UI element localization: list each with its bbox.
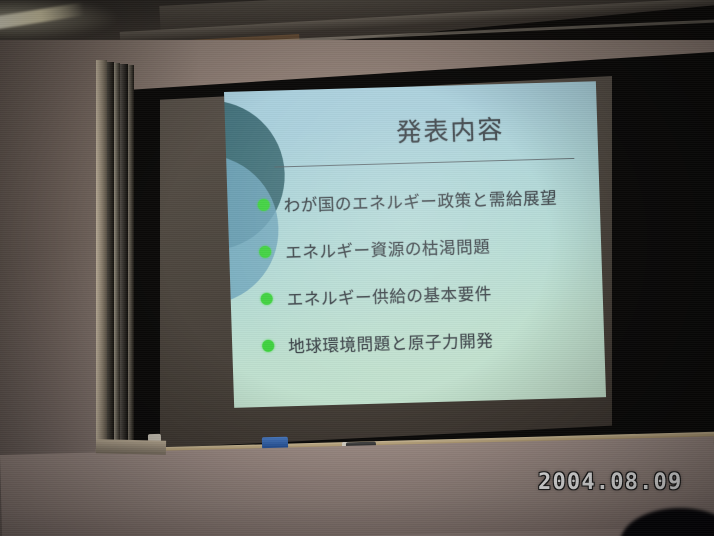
- bullet-dot-icon: [260, 292, 272, 304]
- bullet-dot-icon: [262, 339, 274, 351]
- camera-timestamp: 2004.08.09: [538, 470, 682, 495]
- bullet-dot-icon: [257, 198, 269, 210]
- slide-bullet-list: わが国のエネルギー政策と需給展望 エネルギー資源の枯渇問題 エネルギー供給の基本…: [257, 171, 603, 369]
- slide-canvas: 発表内容 わが国のエネルギー政策と需給展望 エネルギー資源の枯渇問題 エネルギー…: [224, 81, 606, 408]
- slide-title-rule: [274, 158, 574, 168]
- list-item-label: 地球環境問題と原子力開発: [288, 327, 494, 357]
- list-item-label: エネルギー資源の枯渇問題: [285, 233, 491, 263]
- list-item-label: わが国のエネルギー政策と需給展望: [283, 184, 557, 216]
- frame-strip: [120, 64, 128, 448]
- screen-frame-bottom-left: [96, 439, 166, 454]
- projected-slide: 発表内容 わが国のエネルギー政策と需給展望 エネルギー資源の枯渇問題 エネルギー…: [224, 81, 606, 412]
- bullet-dot-icon: [259, 245, 271, 257]
- frame-strip: [128, 65, 134, 447]
- list-item-label: エネルギー供給の基本要件: [286, 280, 492, 310]
- frame-strip: [107, 62, 114, 450]
- list-item: 地球環境問題と原子力開発: [261, 312, 602, 369]
- slide-title: 発表内容: [225, 107, 598, 154]
- photograph: 発表内容 わが国のエネルギー政策と需給展望 エネルギー資源の枯渇問題 エネルギー…: [0, 0, 714, 536]
- screen-frame-left: [96, 60, 107, 452]
